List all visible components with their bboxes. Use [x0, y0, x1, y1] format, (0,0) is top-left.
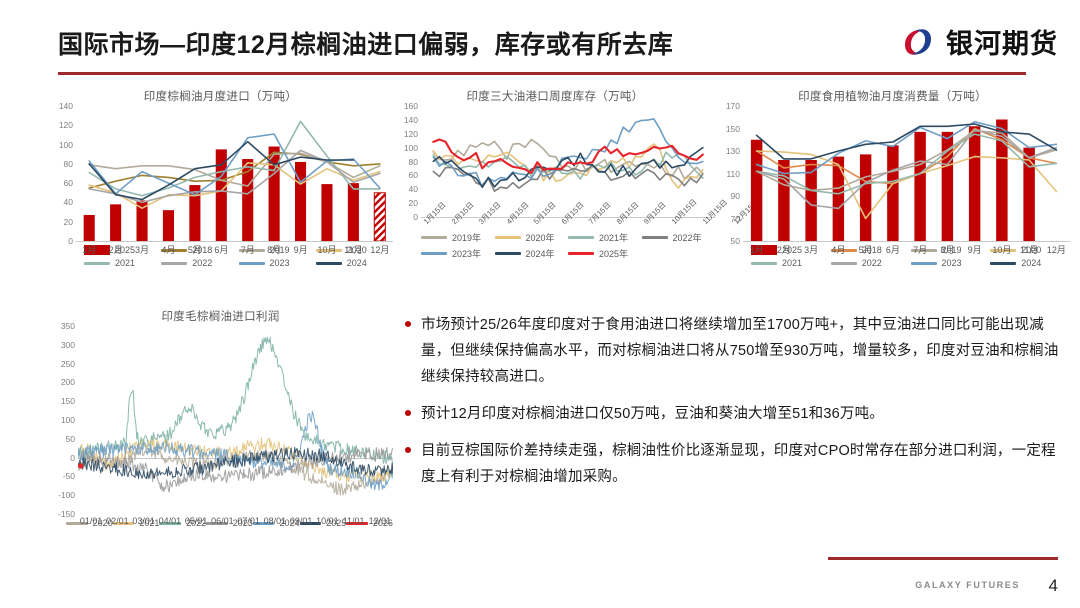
data-point [78, 463, 83, 468]
bar [751, 140, 762, 241]
x-axis-tick-label: 12月 [367, 243, 393, 259]
bar [163, 210, 174, 241]
bullet-list: 市场预计25/26年度印度对于食用油进口将继续增加至1700万吨+，其中豆油进口… [405, 312, 1065, 501]
chart-plot-area: 020406080100120140 [48, 106, 393, 241]
legend-label: 2021 [115, 258, 135, 268]
title-divider [58, 72, 1026, 75]
y-axis-tick: 50 [66, 434, 75, 444]
x-axis-tick-label: 9月 [287, 243, 313, 259]
series-line [89, 134, 380, 195]
y-axis-tick: 140 [404, 115, 418, 125]
slide: 国际市场—印度12月棕榈油进口偏弱，库存或有所去库 银河期货 印度棕榈油月度进口… [0, 0, 1080, 608]
series-line [757, 131, 1057, 191]
y-axis-tick: 40 [64, 197, 73, 207]
x-axis-tick-label: 10/01 [314, 516, 340, 532]
x-axis-labels: 1月2月3月4月5月6月7月8月9月10月11月12月 [743, 243, 1070, 259]
x-axis-tick-label: 01/01 [78, 516, 104, 532]
legend-line-swatch [161, 262, 187, 265]
legend-line-swatch [831, 262, 857, 265]
bar [860, 154, 871, 241]
x-axis-tick-label: 11/01 [341, 516, 367, 532]
bar [914, 132, 925, 241]
chart-series-pane [743, 106, 1070, 241]
y-axis-tick: 40 [409, 184, 418, 194]
chart-plot-area: -150-100-50050100150200250300350 [48, 326, 393, 514]
chart-veg-oil-consumption: 印度食用植物油月度消费量（万吨）5070901101301501701月2月3月… [715, 88, 1070, 293]
y-axis-tick: 200 [61, 377, 75, 387]
legend-label: 2024 [1021, 258, 1041, 268]
y-axis-tick: -50 [63, 471, 75, 481]
legend-item[interactable]: 2022 [831, 258, 911, 268]
x-axis-tick-label: 10月 [314, 243, 340, 259]
legend-item[interactable]: 2021 [84, 258, 161, 268]
bullet-dot-icon [405, 410, 411, 416]
y-axis-tick: 150 [61, 396, 75, 406]
y-axis-tick: 100 [61, 415, 75, 425]
x-axis-tick-label: 08/01 [262, 516, 288, 532]
y-axis: 020406080100120140 [48, 106, 76, 241]
legend-line-swatch [316, 262, 342, 265]
series-line [78, 337, 393, 465]
y-axis: 507090110130150170 [715, 106, 743, 241]
chart-title: 印度三大油港口周度库存（万吨） [395, 88, 715, 104]
x-axis-tick-label: 09/01 [288, 516, 314, 532]
x-axis-labels: 1月2月3月4月5月6月7月8月9月10月11月12月 [76, 243, 393, 259]
y-axis-tick: 60 [409, 170, 418, 180]
y-axis-tick: 80 [64, 159, 73, 169]
legend-label: 2022 [192, 258, 212, 268]
x-axis-tick-label: 06/01 [209, 516, 235, 532]
y-axis-tick: -150 [58, 509, 75, 519]
bullet-dot-icon [405, 321, 411, 327]
x-axis-tick-label: 10月 [988, 243, 1015, 259]
x-axis-tick-label: 5月 [182, 243, 208, 259]
y-axis-tick: 160 [404, 101, 418, 111]
legend-line-swatch [84, 262, 110, 265]
y-axis-tick: 150 [726, 124, 740, 134]
bar [110, 204, 121, 241]
x-axis-tick-label: 3月 [798, 243, 825, 259]
series-line [89, 121, 380, 195]
bar [84, 215, 95, 241]
x-axis-tick-label: 9月 [961, 243, 988, 259]
y-axis: 020406080100120140160 [395, 106, 421, 217]
legend-label: 2023 [942, 258, 962, 268]
x-axis-tick-label: 4月 [155, 243, 181, 259]
bar [348, 183, 359, 241]
x-axis-tick-label: 7月 [907, 243, 934, 259]
y-axis-tick: 60 [64, 178, 73, 188]
y-axis-tick: 170 [726, 101, 740, 111]
series-svg [76, 106, 393, 241]
x-axis-tick-label: 4月 [825, 243, 852, 259]
legend-line-swatch [751, 262, 777, 265]
axis-baseline [76, 241, 393, 242]
footer-brand: GALAXY FUTURES [915, 580, 1020, 590]
bullet-text: 市场预计25/26年度印度对于食用油进口将继续增加至1700万吨+，其中豆油进口… [421, 312, 1065, 390]
y-axis-tick: 90 [731, 191, 740, 201]
x-axis-tick-label: 7月 [235, 243, 261, 259]
x-axis-tick-label: 1月 [743, 243, 770, 259]
bar [216, 149, 227, 241]
legend-label: 2023 [270, 258, 290, 268]
legend-item[interactable]: 2024 [316, 258, 393, 268]
x-axis-tick-label: 2月 [770, 243, 797, 259]
legend-line-swatch [239, 262, 265, 265]
legend-line-swatch [990, 262, 1016, 265]
x-axis-tick-label: 04/01 [157, 516, 183, 532]
legend-item[interactable]: 2023 [239, 258, 316, 268]
bullet-text: 目前豆棕国际价差持续走强，棕榈油性价比逐渐显现，印度对CPO时常存在部分进口利润… [421, 438, 1065, 490]
x-axis-tick-label: 12/01 [367, 516, 393, 532]
legend-label: 2024 [347, 258, 367, 268]
legend-item[interactable]: 2023 [911, 258, 991, 268]
x-axis-tick-label: 1月 [76, 243, 102, 259]
x-axis-labels: 01/0102/0103/0104/0105/0106/0107/0108/01… [78, 516, 393, 532]
legend-label: 2022 [862, 258, 882, 268]
x-axis-tick-label: 12月 [1043, 243, 1070, 259]
bullet-item: 目前豆棕国际价差持续走强，棕榈油性价比逐渐显现，印度对CPO时常存在部分进口利润… [405, 438, 1065, 490]
bar [969, 126, 980, 241]
y-axis-tick: 300 [61, 340, 75, 350]
y-axis-tick: 50 [731, 236, 740, 246]
y-axis-tick: 100 [59, 140, 73, 150]
y-axis-tick: 80 [409, 157, 418, 167]
series-svg [743, 106, 1070, 241]
x-axis-tick-label: 05/01 [183, 516, 209, 532]
galaxy-swirl-icon [899, 23, 937, 61]
x-axis-tick-label: 03/01 [131, 516, 157, 532]
x-axis-tick-label: 2月 [102, 243, 128, 259]
bar [374, 193, 385, 241]
chart-plot-area: 507090110130150170 [715, 106, 1070, 241]
legend-label: 2021 [782, 258, 802, 268]
y-axis-tick: 20 [64, 217, 73, 227]
bullet-item: 预计12月印度对棕榈油进口仅50万吨，豆油和葵油大增至51和36万吨。 [405, 401, 1065, 427]
x-axis-tick-label: 5月 [852, 243, 879, 259]
x-axis-tick-label: 6月 [208, 243, 234, 259]
x-axis-tick-label: 8月 [934, 243, 961, 259]
footer-divider [828, 557, 1058, 560]
x-axis-tick-label: 6月 [879, 243, 906, 259]
y-axis-tick: 70 [731, 214, 740, 224]
legend-item[interactable]: 2021 [751, 258, 831, 268]
y-axis: -150-100-50050100150200250300350 [48, 326, 78, 514]
y-axis-tick: 20 [409, 198, 418, 208]
x-axis-tick-label: 3月 [129, 243, 155, 259]
brand-logo: 银河期货 [899, 22, 1058, 61]
bullet-text: 预计12月印度对棕榈油进口仅50万吨，豆油和葵油大增至51和36万吨。 [421, 401, 884, 427]
x-axis-labels: 1月15日2月15日3月15日4月15日5月15日6月15日7月15日8月15日… [421, 219, 715, 261]
y-axis-tick: 140 [59, 101, 73, 111]
x-axis-tick-label: 07/01 [236, 516, 262, 532]
chart-plot-area: 020406080100120140160 [395, 106, 715, 217]
y-axis-tick: 0 [413, 212, 418, 222]
x-axis-tick-label: 02/01 [104, 516, 130, 532]
bar [321, 184, 332, 241]
page-number: 4 [1049, 576, 1058, 596]
page-title: 国际市场—印度12月棕榈油进口偏弱，库存或有所去库 [58, 25, 673, 61]
y-axis-tick: 110 [726, 169, 740, 179]
logo-text: 银河期货 [946, 22, 1058, 61]
chart-cpo-import-profit: 印度毛棕榈油进口利润-150-100-500501001502002503003… [48, 308, 393, 558]
y-axis-tick: -100 [58, 490, 75, 500]
chart-series-pane [421, 106, 715, 217]
chart-title: 印度毛棕榈油进口利润 [48, 308, 393, 324]
y-axis-tick: 250 [61, 359, 75, 369]
x-axis-tick-label: 11月 [340, 243, 366, 259]
series-svg [421, 106, 715, 217]
x-axis-tick-label: 8月 [261, 243, 287, 259]
y-axis-tick: 130 [726, 146, 740, 156]
y-axis-tick: 100 [404, 143, 418, 153]
chart-title: 印度食用植物油月度消费量（万吨） [715, 88, 1070, 104]
legend-item[interactable]: 2022 [161, 258, 238, 268]
x-axis-tick-label: 11月 [1016, 243, 1043, 259]
chart-series-pane [78, 326, 393, 514]
legend-item[interactable]: 2024 [990, 258, 1070, 268]
chart-title: 印度棕榈油月度进口（万吨） [48, 88, 393, 104]
axis-baseline [743, 241, 1070, 242]
slide-header: 国际市场—印度12月棕榈油进口偏弱，库存或有所去库 银河期货 [0, 0, 1080, 78]
series-svg [78, 326, 393, 514]
y-axis-tick: 120 [59, 120, 73, 130]
chart-series-pane [76, 106, 393, 241]
y-axis-tick: 0 [68, 236, 73, 246]
bar [1023, 148, 1034, 241]
chart-palm-import: 印度棕榈油月度进口（万吨）0204060801001201401月2月3月4月5… [48, 88, 393, 293]
bullet-dot-icon [405, 447, 411, 453]
bar [833, 157, 844, 241]
bullet-item: 市场预计25/26年度印度对于食用油进口将继续增加至1700万吨+，其中豆油进口… [405, 312, 1065, 390]
y-axis-tick: 350 [61, 321, 75, 331]
y-axis-tick: 0 [70, 453, 75, 463]
chart-port-stocks: 印度三大油港口周度库存（万吨）0204060801001201401601月15… [395, 88, 715, 293]
legend-line-swatch [911, 262, 937, 265]
y-axis-tick: 120 [404, 129, 418, 139]
bar [887, 145, 898, 241]
